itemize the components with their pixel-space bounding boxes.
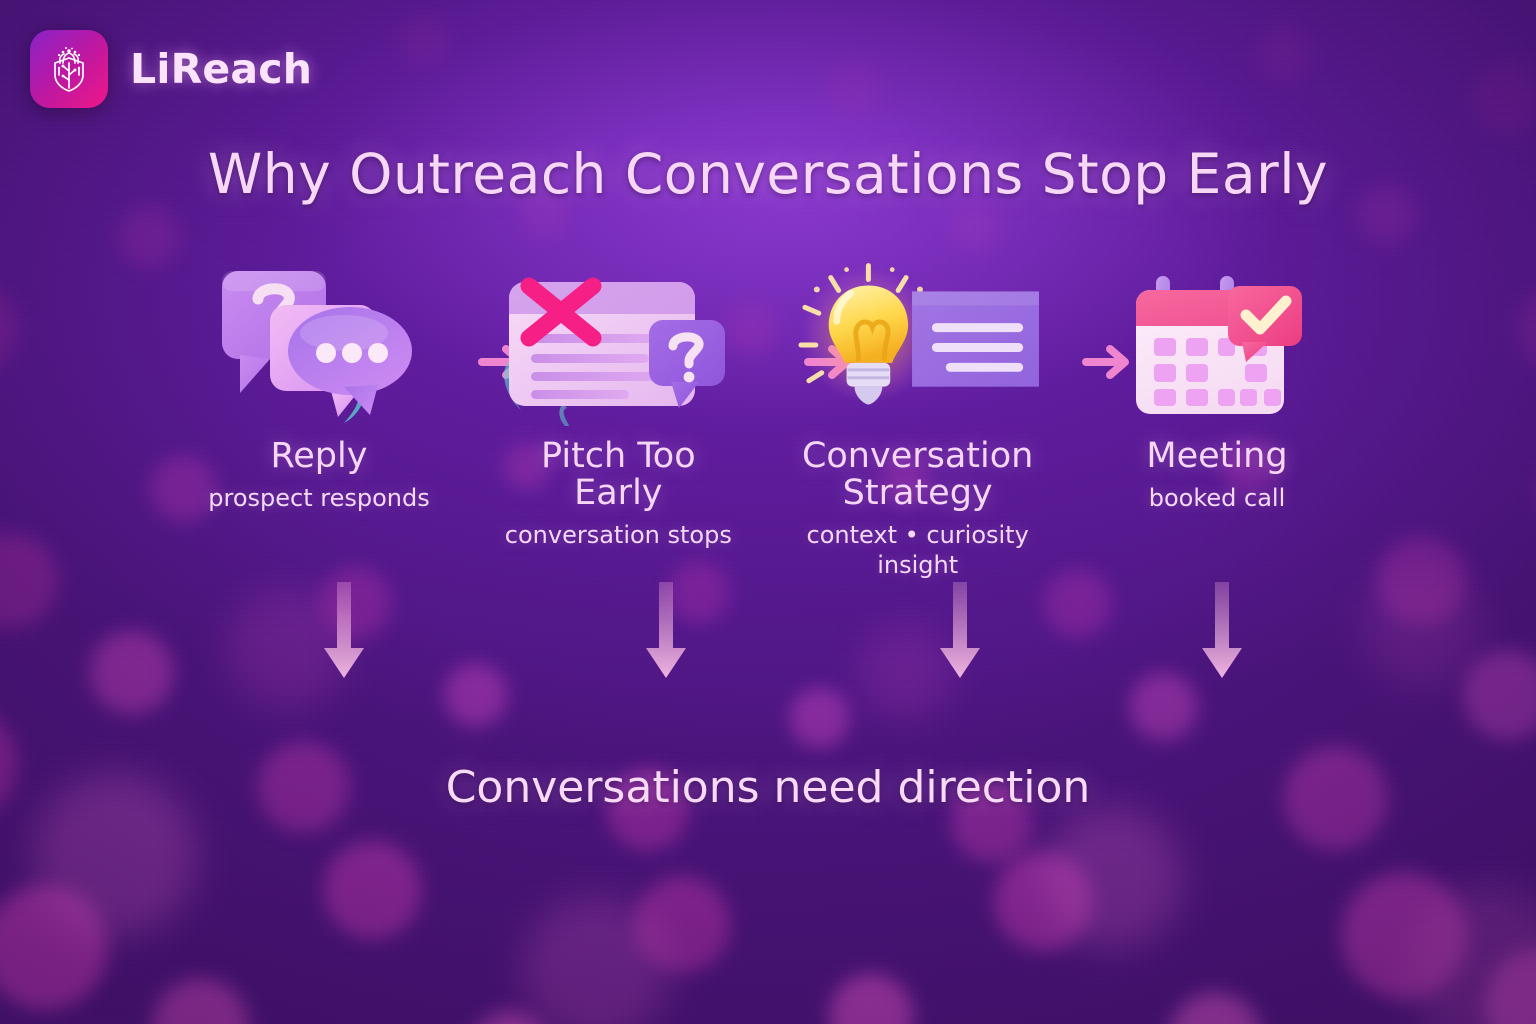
footer-tagline: Conversations need direction [0,762,1536,813]
step-label: Meeting [1146,438,1287,475]
arrow-down-icon [936,582,984,682]
step-label: Pitch Too Early [495,438,741,512]
arrow-down-icon [1198,582,1246,682]
arrow-down-icon [642,582,690,682]
step-subtitle: conversation stops [505,520,732,550]
page-title: Why Outreach Conversations Stop Early [0,142,1536,206]
lightbulb-idea-card-icon [795,262,1041,430]
message-card-rejected-icon [495,262,741,430]
lireach-logo-icon [30,30,108,108]
brand-name: LiReach [130,45,312,93]
step-item: Conversation Strategy context • curiosit… [795,262,1041,580]
step-item: Meeting booked call [1094,262,1340,513]
speech-bubbles-question-icon [196,262,442,430]
step-item: Pitch Too Early conversation stops [495,262,741,550]
brand-lockup: LiReach [30,30,312,108]
calendar-check-icon [1094,262,1340,430]
step-subtitle: booked call [1149,483,1286,513]
step-sequence: Reply prospect responds [196,262,1340,580]
arrow-down-icon [320,582,368,682]
step-subtitle: prospect responds [208,483,429,513]
step-subtitle: context • curiosity insight [795,520,1041,580]
step-label: Reply [271,438,368,475]
step-item: Reply prospect responds [196,262,442,513]
infographic-canvas: LiReach Why Outreach Conversations Stop … [0,0,1536,1024]
step-label: Conversation Strategy [795,438,1041,512]
